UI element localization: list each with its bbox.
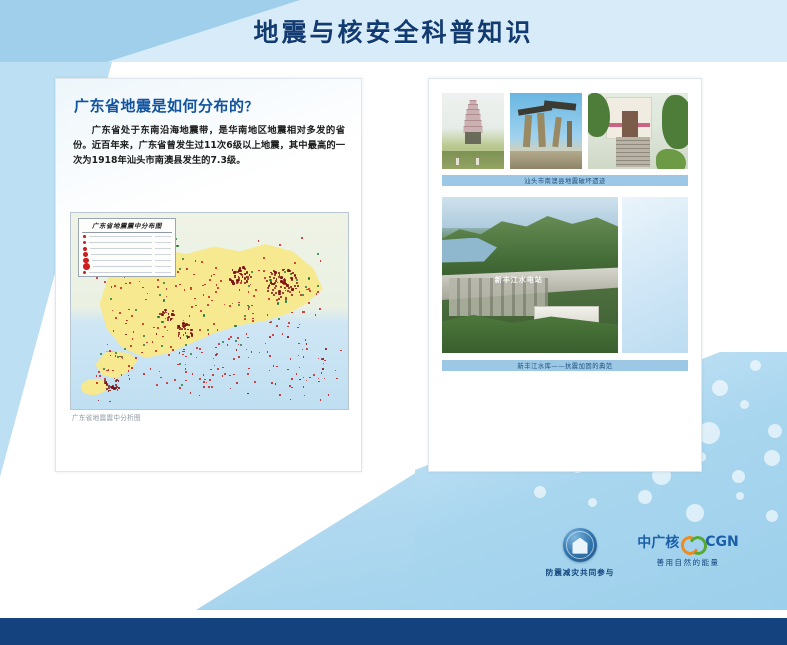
- cgn-slogan: 善用自然的能量: [628, 557, 748, 568]
- map-epicenter-dot: [172, 310, 174, 312]
- map-epicenter-dot: [100, 353, 102, 355]
- map-epicenter-dot: [254, 381, 256, 383]
- map-epicenter-dot: [274, 274, 276, 276]
- foliage-right: [662, 95, 688, 149]
- map-epicenter-dot: [263, 270, 265, 272]
- map-epicenter-dot: [229, 375, 231, 377]
- dam-side-gradient-fill: [622, 197, 688, 353]
- map-legend-rule-2: [155, 254, 171, 255]
- map-epicenter-dot: [129, 282, 131, 284]
- pagoda-foreground-grass: [442, 151, 504, 169]
- map-epicenter-dot: [200, 310, 202, 312]
- map-epicenter-dot: [207, 304, 209, 306]
- map-epicenter-dot: [238, 269, 241, 272]
- map-epicenter-dot: [109, 350, 111, 352]
- map-epicenter-dot: [142, 323, 144, 325]
- map-epicenter-dot: [190, 288, 192, 290]
- map-epicenter-dot: [322, 368, 324, 370]
- map-epicenter-dot: [98, 371, 100, 373]
- map-epicenter-dot: [222, 367, 224, 369]
- map-epicenter-dot: [167, 319, 169, 321]
- earthquake-epicenter-map: 广东省地震震中分布图: [70, 212, 349, 410]
- photo-caption-bar-nanao: 汕头市南澳县地震破坏遗迹: [442, 175, 688, 186]
- map-epicenter-dot: [99, 375, 101, 377]
- map-epicenter-dot: [170, 318, 172, 320]
- map-legend-dot: [83, 235, 86, 238]
- pagoda-person-b: [476, 158, 479, 165]
- map-epicenter-dot: [177, 325, 180, 328]
- map-epicenter-dot: [161, 314, 164, 317]
- stone-steps: [616, 137, 650, 167]
- map-epicenter-dot: [192, 373, 194, 375]
- map-legend-dot: [83, 252, 88, 257]
- map-epicenter-dot: [285, 298, 287, 300]
- map-epicenter-dot: [289, 270, 291, 272]
- map-epicenter-dot: [271, 273, 273, 275]
- map-epicenter-dot: [244, 282, 246, 284]
- map-epicenter-dot: [203, 314, 205, 316]
- photo-caption-dam: 新丰江水库——抗震加固的典范: [517, 361, 612, 370]
- map-epicenter-dot: [236, 349, 238, 351]
- map-epicenter-dot: [111, 386, 114, 389]
- map-epicenter-dot: [268, 298, 270, 300]
- map-epicenter-dot: [203, 386, 205, 388]
- poster-header: 地震与核安全科普知识: [0, 0, 787, 62]
- map-epicenter-dot: [247, 276, 249, 278]
- map-epicenter-dot: [291, 288, 294, 291]
- map-epicenter-dot: [247, 393, 249, 395]
- map-legend-rule: [89, 236, 153, 237]
- cgn-english-name: CGN: [705, 534, 738, 550]
- map-epicenter-dot: [280, 286, 282, 288]
- map-epicenter-dot: [120, 287, 122, 289]
- section-heading: 广东省地震是如何分布的？: [74, 95, 258, 116]
- map-epicenter-dot: [233, 358, 235, 360]
- map-epicenter-dot: [163, 299, 165, 301]
- map-legend-row: [83, 234, 171, 239]
- map-epicenter-dot: [130, 345, 132, 347]
- map-epicenter-dot: [264, 277, 266, 279]
- map-epicenter-dot: [199, 348, 201, 350]
- map-legend-row: [83, 264, 171, 269]
- map-epicenter-dot: [229, 305, 231, 307]
- temple-column-2: [537, 113, 546, 147]
- map-epicenter-dot: [263, 257, 265, 259]
- map-legend-row: [83, 240, 171, 245]
- map-epicenter-dot: [211, 386, 213, 388]
- temple-column-3: [552, 117, 562, 148]
- map-legend-rule: [90, 248, 152, 249]
- pagoda-person-a: [456, 158, 459, 165]
- pagoda-shape: [462, 100, 484, 144]
- map-epicenter-dot: [104, 380, 106, 382]
- map-epicenter-dot: [128, 365, 130, 367]
- map-epicenter-dot: [208, 386, 210, 388]
- map-epicenter-dot: [282, 282, 284, 284]
- map-epicenter-dot: [177, 364, 179, 366]
- map-epicenter-dot: [131, 367, 133, 369]
- map-legend-rule-2: [155, 260, 171, 261]
- map-epicenter-dot: [244, 273, 246, 275]
- map-epicenter-dot: [324, 360, 326, 362]
- map-epicenter-dot: [286, 284, 289, 287]
- map-epicenter-dot: [278, 276, 280, 278]
- map-epicenter-dot: [287, 290, 289, 292]
- map-legend-dot: [83, 247, 87, 251]
- logo-block-cgn: 中广核 CGN 善用自然的能量: [628, 532, 748, 568]
- seal-slogan: 防震减灾共同参与: [520, 567, 640, 578]
- map-epicenter-dot: [302, 294, 304, 296]
- map-legend-rule-2: [155, 248, 171, 249]
- map-epicenter-dot: [238, 304, 240, 306]
- map-epicenter-dot: [157, 286, 159, 288]
- map-legend-rule: [89, 242, 152, 243]
- map-epicenter-dot: [236, 382, 238, 384]
- map-epicenter-dot: [273, 283, 275, 285]
- map-epicenter-dot: [291, 378, 293, 380]
- map-epicenter-dot: [279, 293, 281, 295]
- dam-wall-inscription: 新丰江水电站: [495, 275, 543, 285]
- map-epicenter-dot: [132, 338, 134, 340]
- map-epicenter-dot: [171, 313, 174, 316]
- map-legend-row: [83, 270, 171, 275]
- section-heading-question-mark: ？: [245, 100, 259, 115]
- map-epicenter-dot: [317, 285, 319, 287]
- cgn-wordmark: 中广核 CGN: [628, 532, 748, 552]
- map-legend-dot: [83, 263, 90, 270]
- earthquake-bureau-seal-icon: [563, 528, 597, 562]
- map-legend-row: [83, 252, 171, 257]
- map-epicenter-dot: [308, 302, 310, 304]
- map-epicenter-dot: [247, 373, 249, 375]
- map-epicenter-dot: [325, 348, 327, 350]
- temple-column-1: [523, 115, 532, 147]
- map-epicenter-dot: [114, 285, 116, 287]
- map-epicenter-dot: [201, 261, 203, 263]
- map-legend-rule-2: [155, 236, 171, 237]
- map-legend-rule-2: [155, 272, 171, 273]
- map-epicenter-dot: [238, 356, 240, 358]
- map-epicenter-dot: [317, 291, 319, 293]
- photo-caption-bar-dam: 新丰江水库——抗震加固的典范: [442, 360, 688, 371]
- footer-logos: 防震减灾共同参与 中广核 CGN 善用自然的能量: [500, 528, 750, 586]
- map-epicenter-dot: [244, 318, 246, 320]
- left-content-panel: 广东省地震是如何分布的？ 广东省处于东南沿海地震带，是华南地区地震相对多发的省份…: [55, 78, 362, 472]
- map-epicenter-dot: [253, 295, 255, 297]
- map-epicenter-dot: [274, 287, 276, 289]
- map-epicenter-dot: [320, 399, 322, 401]
- section-body-text: 广东省处于东南沿海地震带，是华南地区地震相对多发的省份。近百年来，广东省曾发生过…: [73, 123, 345, 168]
- map-epicenter-dot: [161, 321, 163, 323]
- photo-row-nanao: [442, 93, 688, 169]
- map-epicenter-dot: [236, 279, 239, 282]
- map-epicenter-dot: [162, 311, 164, 313]
- map-epicenter-dot: [212, 374, 214, 376]
- map-epicenter-dot: [218, 343, 220, 345]
- map-epicenter-dot: [135, 357, 137, 359]
- map-epicenter-dot: [273, 294, 275, 296]
- map-legend-row: [83, 258, 171, 263]
- photo-xinfengjiang-dam: 新丰江水电站: [442, 197, 618, 353]
- map-epicenter-dot: [240, 282, 242, 284]
- map-epicenter-dot: [280, 296, 282, 298]
- map-legend-rule: [93, 266, 152, 267]
- map-epicenter-dot: [282, 333, 284, 335]
- map-epicenter-dot: [179, 352, 181, 354]
- map-epicenter-dot: [289, 385, 291, 387]
- map-epicenter-dot: [224, 373, 226, 375]
- map-epicenter-dot: [242, 266, 245, 269]
- map-epicenter-dot: [267, 290, 269, 292]
- map-epicenter-dot: [285, 300, 287, 302]
- map-epicenter-dot: [248, 368, 250, 370]
- map-epicenter-dot: [271, 382, 273, 384]
- map-epicenter-dot: [118, 387, 120, 389]
- map-epicenter-dot: [179, 387, 181, 389]
- map-epicenter-dot: [291, 387, 293, 389]
- map-epicenter-dot: [181, 384, 183, 386]
- map-epicenter-dot: [119, 312, 121, 314]
- cgn-swoosh-icon: [681, 535, 703, 550]
- map-epicenter-dot: [277, 302, 279, 304]
- map-epicenter-dot: [232, 282, 235, 285]
- pagoda-base: [465, 132, 481, 144]
- map-epicenter-dot: [278, 298, 280, 300]
- temple-rubble-ground: [510, 151, 582, 169]
- map-epicenter-dot: [230, 336, 232, 338]
- map-epicenter-dot: [237, 337, 239, 339]
- map-legend-rule: [89, 272, 152, 273]
- map-epicenter-dot: [215, 354, 217, 356]
- photo-pagoda: [442, 93, 504, 169]
- map-epicenter-dot: [269, 355, 271, 357]
- map-epicenter-dot: [190, 392, 192, 394]
- map-legend-row: [83, 246, 171, 251]
- map-caption: 广东省地震震中分析图: [72, 412, 141, 422]
- map-epicenter-dot: [128, 370, 130, 372]
- map-epicenter-dot: [208, 296, 210, 298]
- map-legend-rule: [91, 254, 152, 255]
- logo-block-seal: 防震减灾共同参与: [520, 528, 640, 578]
- map-epicenter-dot: [276, 325, 278, 327]
- map-legend-dot: [83, 271, 86, 274]
- map-epicenter-dot: [164, 326, 166, 328]
- page-title: 地震与核安全科普知识: [0, 0, 787, 62]
- map-epicenter-dot: [163, 282, 165, 284]
- poster-canvas: 地震与核安全科普知识: [0, 0, 787, 645]
- map-legend: 广东省地震震中分布图: [78, 218, 176, 277]
- map-epicenter-dot: [279, 244, 281, 246]
- map-epicenter-dot: [209, 379, 211, 381]
- photo-collapsed-temple: [510, 93, 582, 169]
- map-epicenter-dot: [210, 369, 212, 371]
- footer-bar: [0, 618, 787, 645]
- map-legend-title: 广东省地震震中分布图: [82, 221, 172, 233]
- map-epicenter-dot: [272, 334, 274, 336]
- photo-caption-nanao: 汕头市南澳县地震破坏遗迹: [524, 176, 606, 185]
- map-epicenter-dot: [244, 315, 246, 317]
- foliage-bottom: [656, 149, 686, 169]
- map-epicenter-dot: [156, 384, 158, 386]
- map-epicenter-dot: [172, 349, 174, 351]
- map-epicenter-dot: [317, 253, 319, 255]
- map-legend-rule: [92, 260, 152, 261]
- map-epicenter-dot: [108, 387, 110, 389]
- map-epicenter-dot: [246, 271, 248, 273]
- map-epicenter-dot: [157, 316, 159, 318]
- map-epicenter-dot: [115, 317, 117, 319]
- right-content-panel: 汕头市南澳县地震破坏遗迹 新丰江水电站 新丰江水库——抗震加固的典范: [428, 78, 702, 472]
- map-epicenter-dot: [96, 277, 98, 279]
- map-epicenter-dot: [135, 309, 137, 311]
- left-panel-surface: 广东省地震是如何分布的？ 广东省处于东南沿海地震带，是华南地区地震相对多发的省份…: [56, 79, 361, 471]
- map-epicenter-dot: [203, 381, 205, 383]
- map-epicenter-dot: [279, 394, 281, 396]
- map-epicenter-dot: [301, 237, 303, 239]
- map-epicenter-dot: [170, 346, 172, 348]
- map-legend-rule-2: [155, 266, 171, 267]
- stairs-house-door: [622, 111, 638, 137]
- map-epicenter-dot: [181, 328, 183, 330]
- map-epicenter-dot: [287, 336, 289, 338]
- map-epicenter-dot: [234, 325, 236, 327]
- map-epicenter-dot: [217, 368, 219, 370]
- map-legend-rule-2: [155, 242, 171, 243]
- map-epicenter-dot: [199, 378, 201, 380]
- map-epicenter-dot: [213, 323, 215, 325]
- temple-column-4: [567, 121, 572, 147]
- section-heading-text: 广东省地震是如何分布的: [74, 97, 245, 115]
- cgn-chinese-name: 中广核: [637, 532, 679, 552]
- map-epicenter-dot: [177, 271, 179, 273]
- map-epicenter-dot: [308, 277, 310, 279]
- map-epicenter-dot: [230, 279, 232, 281]
- map-legend-rows: [83, 234, 171, 276]
- map-epicenter-dot: [288, 322, 290, 324]
- map-epicenter-dot: [155, 350, 157, 352]
- map-epicenter-dot: [188, 324, 190, 326]
- photo-damaged-stairs: [588, 93, 688, 169]
- seal-inner-ring: [566, 531, 594, 559]
- map-epicenter-dot: [305, 286, 307, 288]
- map-epicenter-dot: [157, 279, 159, 281]
- map-epicenter-dot: [166, 382, 168, 384]
- map-epicenter-dot: [117, 389, 119, 391]
- map-epicenter-dot: [103, 368, 105, 370]
- map-epicenter-dot: [96, 382, 98, 384]
- map-legend-dot: [83, 241, 86, 244]
- map-epicenter-dot: [290, 277, 293, 280]
- map-epicenter-dot: [319, 308, 321, 310]
- map-epicenter-dot: [143, 373, 145, 375]
- map-epicenter-dot: [297, 285, 299, 287]
